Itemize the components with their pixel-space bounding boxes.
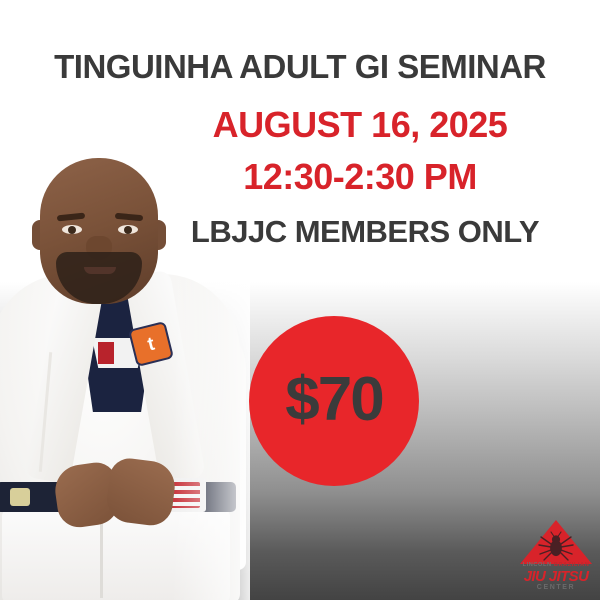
pupil-left [68,226,76,234]
gi-skirt-fold [100,514,103,598]
undershirt-graphic-accent [98,342,114,364]
price-badge: $70 [249,316,419,486]
patch-letter: t [146,334,157,354]
event-date: AUGUST 16, 2025 [120,104,600,146]
seminar-flyer: t TINGUINHA ADULT GI SEMINAR AUGUST 16, … [0,0,600,600]
belt-badge [10,488,30,506]
mouth [84,267,116,274]
eligibility-note: LBJJC MEMBERS ONLY [130,214,600,250]
logo-wordmark: JIU JITSU [518,569,594,584]
page-title: TINGUINHA ADULT GI SEMINAR [0,48,600,86]
spider-triangle-icon [518,518,594,566]
event-time: 12:30-2:30 PM [120,156,600,198]
logo-subtext: CENTER [518,584,594,591]
price-amount: $70 [285,369,382,431]
gi-skirt [2,510,230,600]
academy-logo: LINCOLN BRAZILIAN JIU JITSU CENTER [518,518,594,594]
